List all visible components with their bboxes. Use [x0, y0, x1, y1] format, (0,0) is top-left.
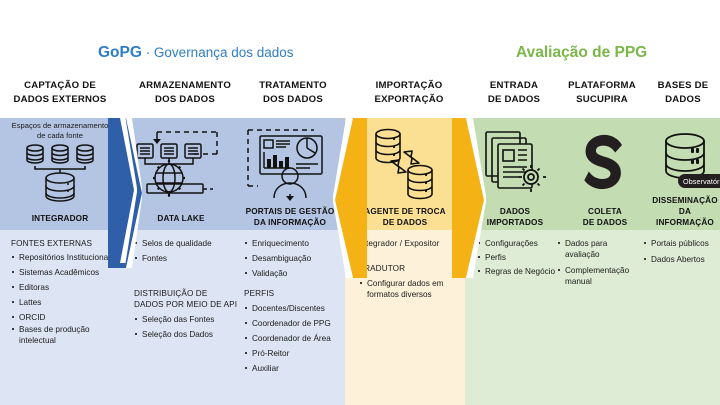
list-item: Sistemas Acadêmicos [11, 267, 115, 278]
caption-data-lake: DATA LAKE [126, 213, 236, 224]
caption-portais-gestao-line2: DA INFORMAÇÃO [238, 217, 342, 228]
caption-portais-gestao-line1: PORTAIS DE GESTÃO [238, 206, 342, 217]
list-item: Fontes [134, 253, 234, 264]
column-header-importacao-line2: EXPORTAÇÃO [355, 93, 463, 107]
column-header-bases-line1: BASES DE [646, 79, 720, 93]
title-gopg-separator: · [142, 45, 154, 60]
dashboard-person-icon [238, 126, 342, 202]
column-header-importacao: IMPORTAÇÃO EXPORTAÇÃO [355, 79, 463, 106]
block-plataforma-sucupira-list: Dados para avaliação Complementação manu… [557, 238, 639, 287]
list-item: Coordenador de PPG [244, 318, 344, 329]
block-integrador-expositor-heading: Integrador / Expositor [359, 238, 459, 249]
block-fontes-externas: FONTES EXTERNAS Repositórios Institucion… [11, 238, 115, 350]
column-header-tratamento: TRATAMENTO DOS DADOS [241, 79, 345, 106]
block-fontes-externas-list: Repositórios Institucionais Sistemas Aca… [11, 252, 115, 346]
column-header-entrada: ENTRADA DE DADOS [470, 79, 558, 106]
captacao-top-note-line1: Espaços de armazenamento [0, 121, 120, 131]
caption-disseminacao-line1: DISSEMINAÇÃO [651, 195, 719, 206]
column-header-armazenamento: ARMAZENAMENTO DOS DADOS [129, 79, 241, 106]
column-header-armazenamento-line2: DOS DADOS [129, 93, 241, 107]
globe-gear-datalake-icon [126, 128, 236, 200]
arrow-blue-right [108, 118, 142, 405]
block-armazenamento-qualidade: Selos de qualidade Fontes [134, 238, 234, 268]
column-header-armazenamento-line1: ARMAZENAMENTO [129, 79, 241, 93]
panel-captacao-body: FONTES EXTERNAS Repositórios Institucion… [0, 230, 120, 405]
list-item: Seleção das Fontes [134, 314, 238, 325]
list-item: Lattes [11, 297, 115, 308]
list-item: Pró-Reitor [244, 348, 344, 359]
panel-captacao: Espaços de armazenamento de cada fonte [0, 118, 120, 405]
list-item: Validação [244, 268, 344, 279]
caption-portais-gestao: PORTAIS DE GESTÃO DA INFORMAÇÃO [238, 206, 342, 228]
arrow-yellow-right [452, 118, 486, 405]
list-item: Perfis [477, 252, 557, 263]
block-bases-dados-list: Portais públicos Dados Abertos [643, 238, 719, 265]
block-distribuicao-api: DISTRIBUIÇÃO DE DADOS POR MEIO DE API Se… [134, 288, 238, 344]
list-item: Configurar dados em formatos diversos [359, 278, 459, 300]
column-header-captacao-line2: DADOS EXTERNOS [0, 93, 120, 107]
caption-coleta-dados: COLETA DE DADOS [559, 206, 651, 228]
observatorio-badge: Observatório [678, 174, 720, 188]
list-item: Enriquecimento [244, 238, 344, 249]
list-item: Portais públicos [643, 238, 719, 249]
list-item: Auxiliar [244, 363, 344, 374]
block-armazenamento-qualidade-list: Selos de qualidade Fontes [134, 238, 234, 264]
list-item: Bases de produção intelectual [11, 324, 115, 346]
caption-disseminacao: DISSEMINAÇÃO DA INFORMAÇÃO [651, 195, 719, 228]
captacao-top-note: Espaços de armazenamento de cada fonte [0, 121, 120, 141]
panel-avaliacao-group: DADOS IMPORTADOS COLETA DE DADOS [465, 118, 720, 405]
list-item: Coordenador de Área [244, 333, 344, 344]
title-gopg: GoPG · Governança dos dados [98, 44, 294, 62]
block-fontes-externas-heading: FONTES EXTERNAS [11, 238, 115, 249]
column-header-importacao-line1: IMPORTAÇÃO [355, 79, 463, 93]
block-bases-dados: Portais públicos Dados Abertos [643, 238, 719, 269]
column-header-tratamento-line1: TRATAMENTO [241, 79, 345, 93]
caption-integrador: INTEGRADOR [0, 213, 120, 224]
caption-disseminacao-line2: DA INFORMAÇÃO [651, 206, 719, 228]
title-avaliacao-ppg: Avaliação de PPG [516, 44, 647, 62]
column-header-captacao-line1: CAPTAÇÃO DE [0, 79, 120, 93]
database-stack-icon [0, 142, 120, 206]
list-item: Configurações [477, 238, 557, 249]
block-tratamento-acoes-list: Enriquecimento Desambiguação Validação [244, 238, 344, 279]
block-distribuicao-api-heading: DISTRIBUIÇÃO DE DADOS POR MEIO DE API [134, 288, 238, 310]
panel-avaliacao-band: DADOS IMPORTADOS COLETA DE DADOS [465, 118, 720, 230]
block-plataforma-sucupira: Dados para avaliação Complementação manu… [557, 238, 639, 291]
panel-armazenamento-tratamento: DATA LAKE [120, 118, 345, 405]
block-entrada-dados: Configurações Perfis Regras de Negócio [477, 238, 557, 281]
block-perfis: PERFIS Docentes/Discentes Coordenador de… [244, 288, 344, 378]
column-header-bases: BASES DE DADOS [646, 79, 720, 106]
list-item: Editoras [11, 282, 115, 293]
block-tratamento-acoes: Enriquecimento Desambiguação Validação [244, 238, 344, 283]
captacao-top-note-line2: de cada fonte [0, 131, 120, 141]
list-item: Regras de Negócio [477, 266, 557, 277]
panel-armazenamento-tratamento-body: Selos de qualidade Fontes DISTRIBUIÇÃO D… [120, 230, 345, 405]
list-item: ORCID [11, 312, 115, 323]
caption-coleta-dados-line1: COLETA [559, 206, 651, 217]
sucupira-s-logo-icon [559, 132, 651, 190]
title-gopg-subtitle: Governança dos dados [154, 45, 294, 60]
block-integrador-expositor: Integrador / Expositor [359, 238, 459, 252]
column-header-tratamento-line2: DOS DADOS [241, 93, 345, 107]
caption-integrador-line1: INTEGRADOR [0, 213, 120, 224]
list-item: Desambiguação [244, 253, 344, 264]
caption-data-lake-line1: DATA LAKE [126, 213, 236, 224]
list-item: Docentes/Discentes [244, 303, 344, 314]
list-item: Complementação manual [557, 265, 639, 287]
block-perfis-list: Docentes/Discentes Coordenador de PPG Co… [244, 303, 344, 374]
column-header-entrada-line1: ENTRADA [470, 79, 558, 93]
list-item: Selos de qualidade [134, 238, 234, 249]
block-tradutor: TRADUTOR Configurar dados em formatos di… [359, 263, 459, 304]
arrow-yellow-left [333, 118, 367, 405]
column-header-plataforma-line1: PLATAFORMA [556, 79, 648, 93]
list-item: Dados Abertos [643, 254, 719, 265]
list-item: Seleção dos Dados [134, 329, 238, 340]
column-header-entrada-line2: DE DADOS [470, 93, 558, 107]
panel-armazenamento-tratamento-band: DATA LAKE [120, 118, 345, 230]
block-tradutor-heading: TRADUTOR [359, 263, 459, 274]
list-item: Repositórios Institucionais [11, 252, 115, 263]
column-header-plataforma: PLATAFORMA SUCUPIRA [556, 79, 648, 106]
diagram-canvas: GoPG · Governança dos dados Avaliação de… [0, 0, 720, 405]
panel-captacao-band: Espaços de armazenamento de cada fonte [0, 118, 120, 230]
block-tradutor-list: Configurar dados em formatos diversos [359, 278, 459, 300]
block-perfis-heading: PERFIS [244, 288, 344, 299]
block-distribuicao-api-list: Seleção das Fontes Seleção dos Dados [134, 314, 238, 340]
column-header-plataforma-line2: SUCUPIRA [556, 93, 648, 107]
block-entrada-dados-list: Configurações Perfis Regras de Negócio [477, 238, 557, 277]
title-gopg-lead: GoPG [98, 44, 142, 61]
column-header-bases-line2: DADOS [646, 93, 720, 107]
list-item: Dados para avaliação [557, 238, 639, 260]
column-header-captacao: CAPTAÇÃO DE DADOS EXTERNOS [0, 79, 120, 106]
caption-coleta-dados-line2: DE DADOS [559, 217, 651, 228]
panel-avaliacao-body: Configurações Perfis Regras de Negócio D… [465, 230, 720, 405]
